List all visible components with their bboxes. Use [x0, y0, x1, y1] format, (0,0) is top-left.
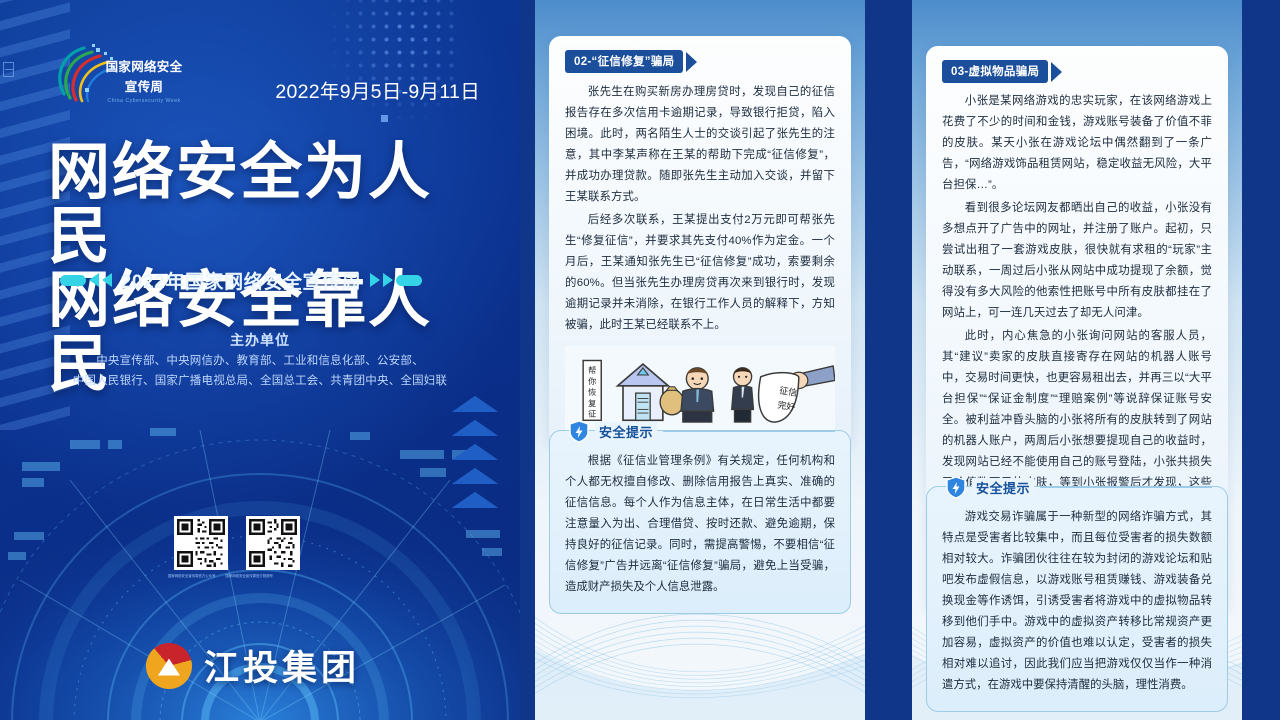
svg-text:你: 你: [588, 376, 596, 386]
chevron-stack-decoration: [452, 396, 498, 514]
cybersecurity-week-logo: 国家网络安全 宣传周 China Cybersecurity Week: [52, 42, 190, 108]
section-tag-03: 03-虚拟物品骗局: [942, 60, 1048, 83]
qr-code-group: [174, 516, 300, 570]
divider: [663, 431, 835, 432]
qr-code-video-account[interactable]: [246, 516, 300, 570]
right-arrow-decoration: [370, 273, 422, 287]
safety-tip-03: 安全提示 游戏交易诈骗属于一种新型的网络诈骗方式，其特点是受害者比较集中，而且每…: [926, 486, 1228, 712]
corporate-name: 江投集团: [204, 640, 360, 691]
safety-tip-title: 安全提示: [972, 478, 1034, 497]
chevron-right-icon: [1051, 62, 1062, 82]
shield-icon: [946, 476, 966, 499]
logo-line-2: 宣传周: [96, 76, 192, 95]
safety-tip-title: 安全提示: [595, 422, 657, 441]
host-organizations: 中央宣传部、中央网信办、教育部、工业和信息化部、公安部、 中国人民银行、国家广播…: [0, 352, 520, 391]
slogan-line-1: 网络安全为人民: [48, 140, 478, 268]
qr-caption-left: 国家网络安全宣传周官方公众号: [168, 573, 215, 578]
safety-tip-header: 安全提示: [565, 420, 835, 443]
story-paragraph: 张先生在购买新房办理房贷时，发现自己的征信报告存在多次信用卡逾期记录，导致银行拒…: [565, 82, 835, 208]
story-card-02: 02-“征信修复”骗局 张先生在购买新房办理房贷时，发现自己的征信报告存在多次信…: [549, 36, 851, 449]
host-line-2: 中国人民银行、国家广播电视总局、全国总工会、共青团中央、全国妇联: [0, 372, 520, 392]
left-arrow-decoration: [60, 273, 112, 287]
logo-line-3: China Cybersecurity Week: [96, 98, 192, 104]
logo-line-1: 国家网络安全: [96, 56, 192, 75]
event-date: 2022年9月5日-9月11日: [275, 75, 480, 104]
divider: [1040, 487, 1212, 488]
svg-text:复: 复: [588, 398, 596, 408]
svg-text:帮: 帮: [588, 365, 596, 375]
qr-caption-right: 国家网络安全宣传周官方视频号: [225, 573, 272, 578]
section-tag-row-03: 03-虚拟物品骗局: [942, 60, 1212, 83]
left-poster: 国家网络安全 宣传周 China Cybersecurity Week 2022…: [0, 0, 520, 720]
svg-text:恢: 恢: [588, 387, 596, 397]
dot-accent-decoration: [381, 115, 388, 122]
host-line-1: 中央宣传部、中央网信办、教育部、工业和信息化部、公安部、: [0, 352, 520, 372]
shield-icon: [569, 420, 589, 443]
qr-captions: 国家网络安全宣传周官方公众号 国家网络安全宣传周官方视频号: [168, 573, 298, 578]
svg-text:征: 征: [588, 408, 596, 418]
sub-banner: 2022年国家网络安全宣传周: [62, 265, 420, 295]
story-paragraph: 后经多次联系，王某提出支付2万元即可帮张先生“修复征信”，并要求其先支付40%作…: [565, 210, 835, 336]
poster-screenshot: 国家网络安全 宣传周 China Cybersecurity Week 2022…: [0, 0, 1280, 720]
small-square-icon: [3, 62, 14, 77]
section-tag-02: 02-“征信修复”骗局: [565, 50, 683, 73]
corporate-logo: 江投集团: [146, 640, 360, 691]
panel-section-03: 03-虚拟物品骗局 小张是某网络游戏的忠实玩家，在该网络游戏上花费了不少的时间和…: [912, 0, 1242, 720]
safety-tip-02: 安全提示 根据《征信业管理条例》有关规定，任何机构和个人都无权擅自修改、删除信用…: [549, 430, 851, 614]
panel-section-02: 02-“征信修复”骗局 张先生在购买新房办理房贷时，发现自己的征信报告存在多次信…: [535, 0, 865, 720]
corporate-mark-icon: [146, 643, 192, 689]
sub-banner-label: 2022年国家网络安全宣传周: [121, 267, 362, 294]
safety-tip-body: 根据《征信业管理条例》有关规定，任何机构和个人都无权擅自修改、删除信用报告上真实…: [565, 451, 835, 598]
safety-tip-header: 安全提示: [942, 476, 1212, 499]
qr-code-official-account[interactable]: [174, 516, 228, 570]
host-title: 主办单位: [0, 330, 520, 350]
section-tag-row-02: 02-“征信修复”骗局: [565, 50, 835, 73]
story-paragraph: 小张是某网络游戏的忠实玩家，在该网络游戏上花费了不少的时间和金钱，游戏账号装备了…: [942, 91, 1212, 196]
safety-tip-body: 游戏交易诈骗属于一种新型的网络诈骗方式，其特点是受害者比较集中，而且每位受害者的…: [942, 507, 1212, 696]
chevron-right-icon: [686, 52, 697, 72]
story-paragraph: 看到很多论坛网友都晒出自己的收益，小张没有多想点开了广告中的网址，并注册了账户。…: [942, 198, 1212, 324]
dot-matrix-decoration: [328, 0, 458, 124]
